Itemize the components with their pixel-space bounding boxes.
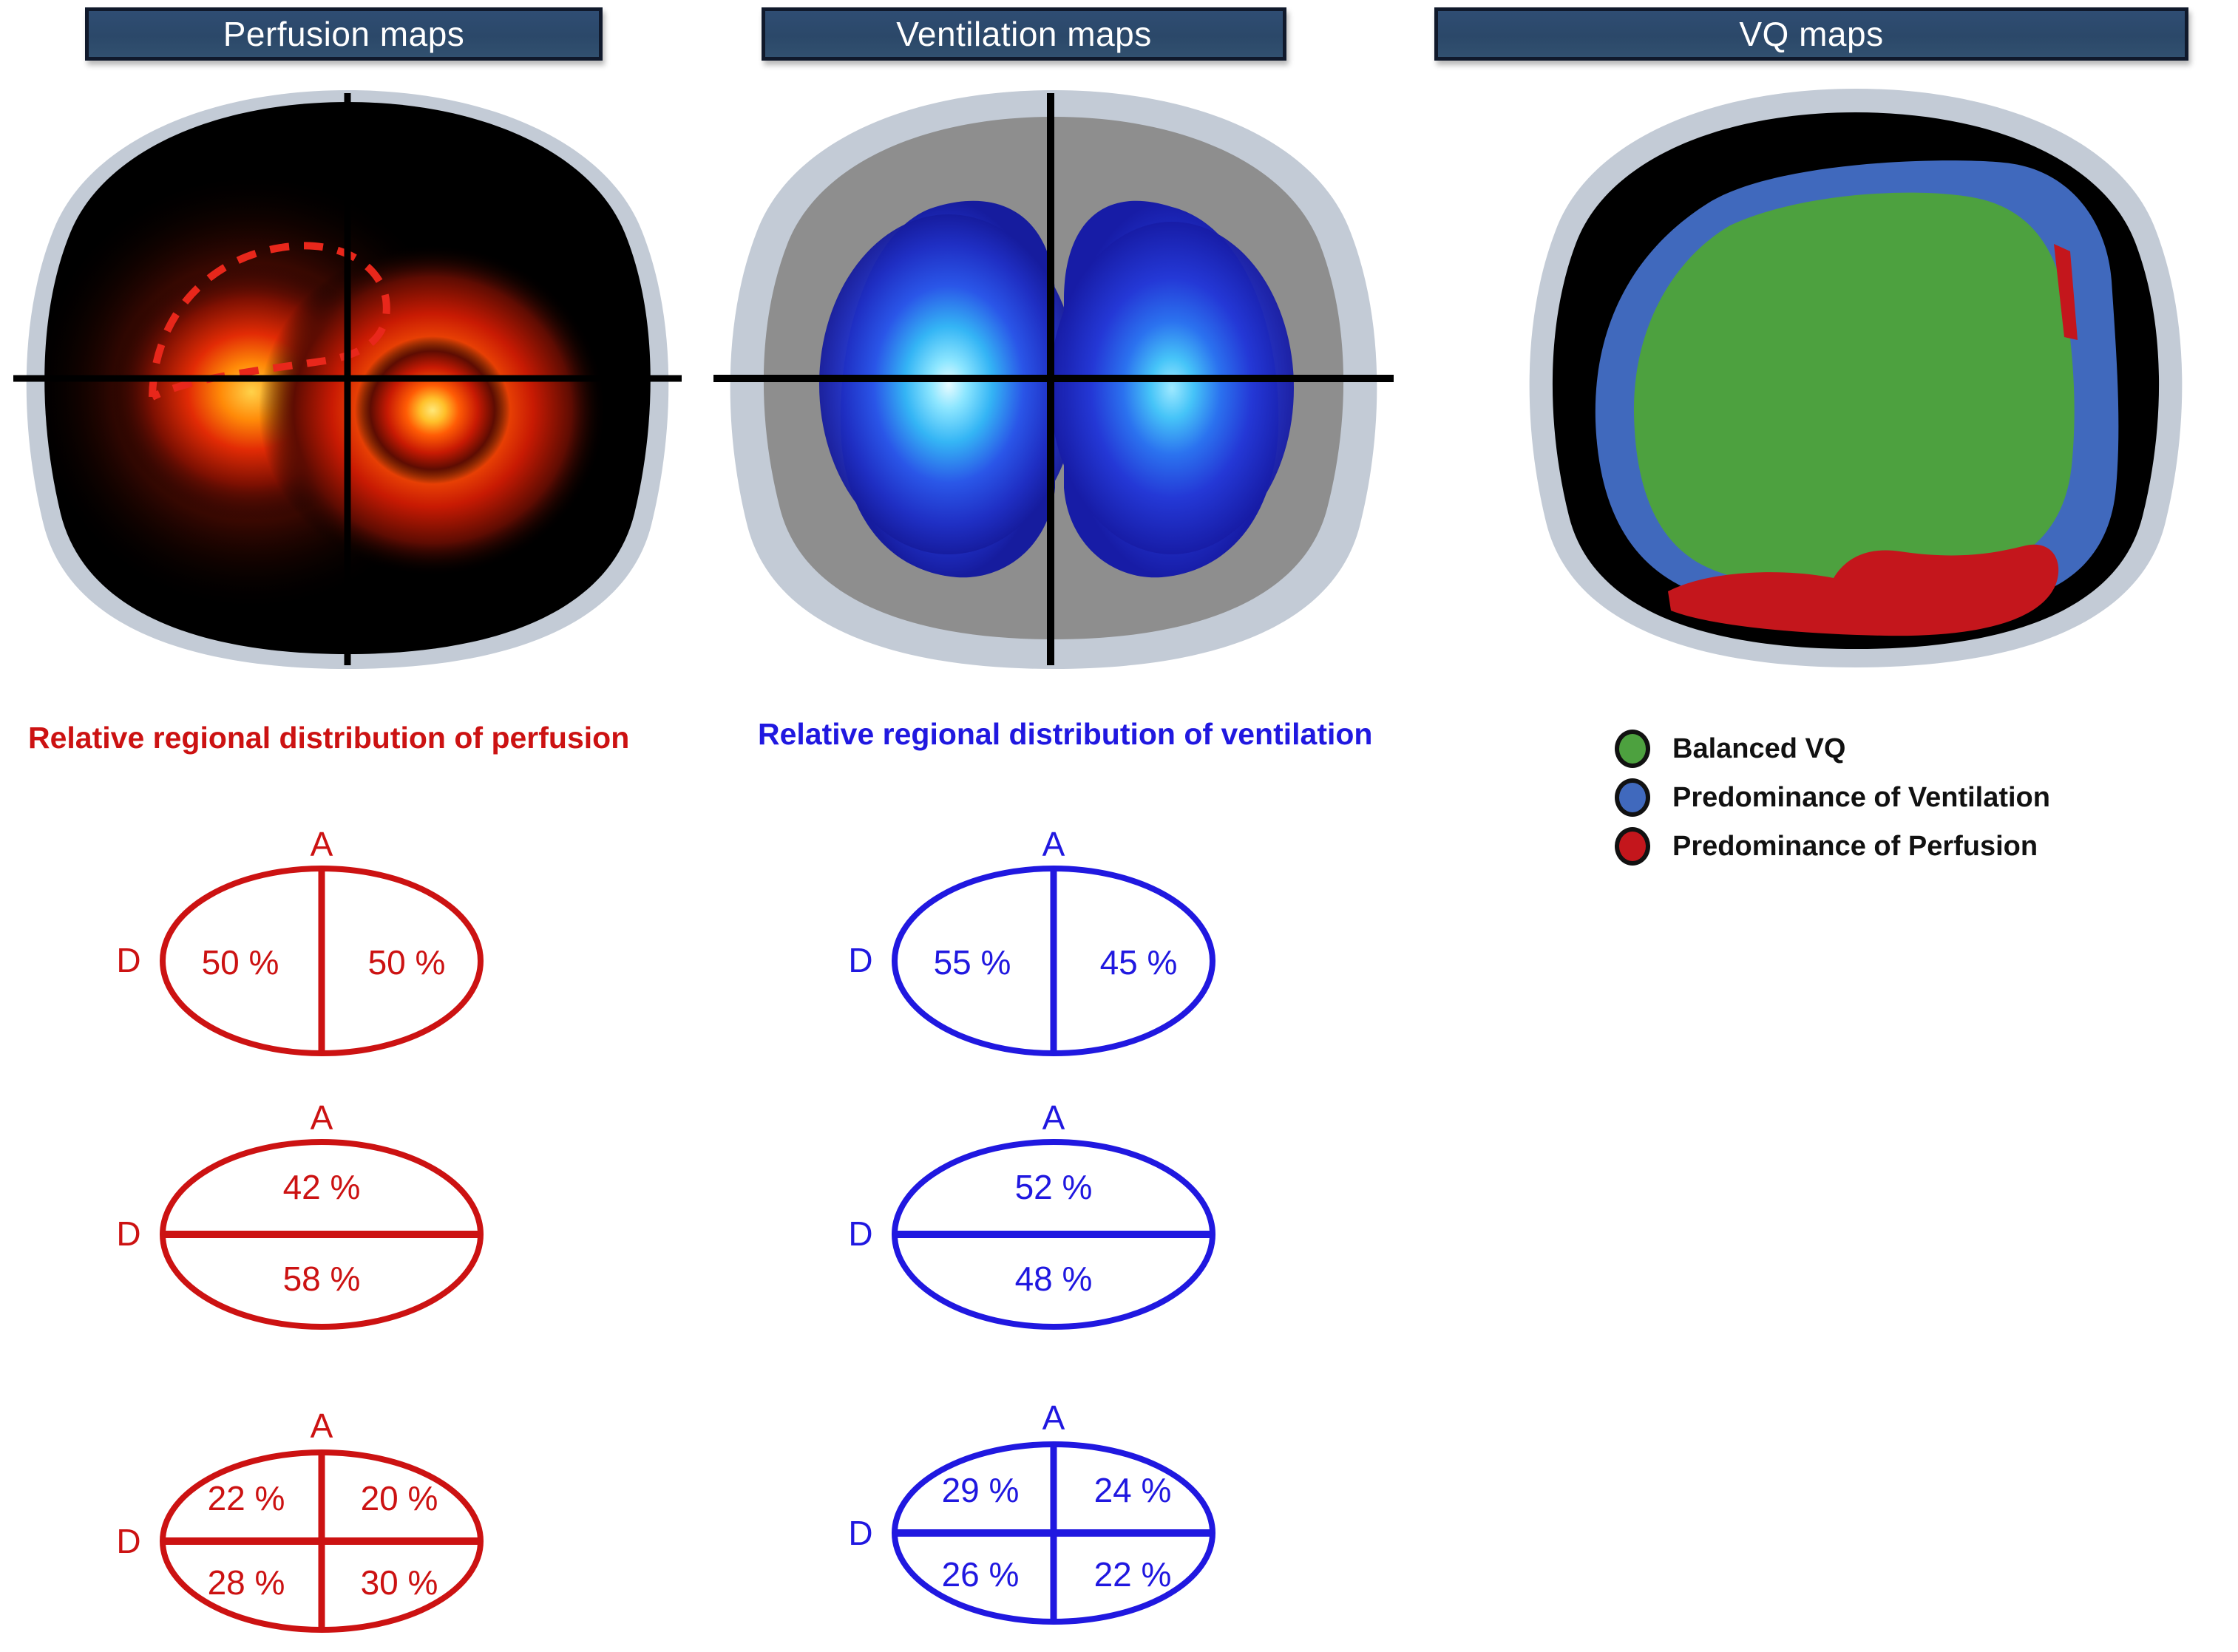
legend-label-ventilation: Predominance of Ventilation (1672, 782, 2050, 814)
value-posterior: 58 % (283, 1260, 361, 1298)
legend-swatch-red-icon (1615, 827, 1650, 866)
panel-title-ventilation: Ventilation maps (896, 14, 1152, 54)
diagram-ventilation-left-right: A D 55 % 45 % (843, 820, 1420, 1079)
label-right-side: D (116, 1214, 140, 1253)
panel-header-ventilation: Ventilation maps (762, 7, 1286, 61)
legend-swatch-blue-icon (1615, 778, 1650, 817)
label-anterior: A (311, 825, 333, 863)
diagram-ventilation-ant-post: A D 52 % 48 % (843, 1094, 1420, 1353)
legend-swatch-green-icon (1615, 730, 1650, 768)
value-anterior-right: 20 % (361, 1479, 438, 1517)
value-left: 50 % (202, 943, 279, 982)
value-posterior-left: 26 % (942, 1555, 1020, 1594)
legend-item-perfusion: Predominance of Perfusion (1615, 822, 2050, 871)
label-right-side: D (848, 941, 872, 979)
label-anterior: A (311, 1407, 333, 1445)
panel-header-perfusion: Perfusion maps (85, 7, 603, 61)
diagram-perfusion-quadrants: A D 22 % 20 % 28 % 30 % (111, 1408, 688, 1652)
diagram-ventilation-quadrants: A D 29 % 24 % 26 % 22 % (843, 1397, 1420, 1648)
value-anterior-left: 29 % (942, 1471, 1020, 1509)
value-anterior-right: 24 % (1094, 1471, 1172, 1509)
value-left: 55 % (934, 943, 1011, 982)
panel-header-vq: VQ maps (1434, 7, 2188, 61)
label-right-side: D (116, 1522, 140, 1560)
value-anterior: 52 % (1015, 1168, 1093, 1206)
legend-label-perfusion: Predominance of Perfusion (1672, 831, 2038, 863)
value-posterior: 48 % (1015, 1260, 1093, 1298)
label-anterior: A (1042, 1398, 1065, 1437)
value-anterior-left: 22 % (208, 1479, 285, 1517)
vq-legend: Balanced VQ Predominance of Ventilation … (1615, 724, 2050, 871)
section-title-ventilation: Relative regional distribution of ventil… (758, 717, 1372, 752)
legend-item-ventilation: Predominance of Ventilation (1615, 773, 2050, 822)
value-posterior-right: 22 % (1094, 1555, 1172, 1594)
panel-title-perfusion: Perfusion maps (223, 14, 465, 54)
vq-region-balanced (1634, 193, 2075, 589)
legend-label-balanced-vq: Balanced VQ (1672, 733, 1845, 765)
value-right: 50 % (368, 943, 446, 982)
vq-map-image (1486, 74, 2225, 680)
label-anterior: A (311, 1098, 333, 1137)
value-posterior-right: 30 % (361, 1563, 438, 1602)
value-anterior: 42 % (283, 1168, 361, 1206)
ventilation-map-image (713, 74, 1394, 680)
value-right: 45 % (1100, 943, 1178, 982)
perfusion-map-image (7, 74, 688, 680)
panel-title-vq: VQ maps (1739, 14, 1883, 54)
diagram-perfusion-left-right: A D 50 % 50 % (111, 820, 688, 1079)
label-right-side: D (848, 1214, 872, 1253)
label-right-side: D (848, 1514, 872, 1552)
label-right-side: D (116, 941, 140, 979)
diagram-perfusion-ant-post: A D 42 % 58 % (111, 1094, 688, 1353)
label-anterior: A (1042, 1098, 1065, 1137)
section-title-perfusion: Relative regional distribution of perfus… (28, 721, 629, 755)
legend-item-balanced-vq: Balanced VQ (1615, 724, 2050, 773)
label-anterior: A (1042, 825, 1065, 863)
value-posterior-left: 28 % (208, 1563, 285, 1602)
